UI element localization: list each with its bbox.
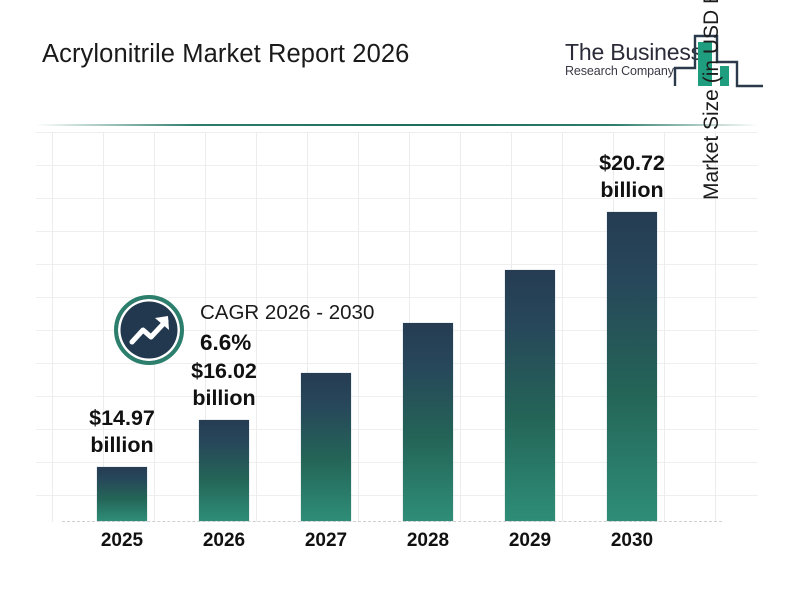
y-axis-title: Market Size (in USD Billion) <box>700 0 724 200</box>
bar-value-unit: billion <box>149 385 299 412</box>
bar-value-unit: billion <box>47 432 197 459</box>
x-axis-label-2028: 2028 <box>378 530 478 552</box>
bar-chart: $14.97 billion $16.02 billion $20.72 bil… <box>36 132 758 532</box>
x-axis-label-2029: 2029 <box>480 530 580 552</box>
bar-2029[interactable] <box>505 270 555 521</box>
cagr-label: CAGR 2026 - 2030 <box>200 299 440 327</box>
bar-value-2025: $14.97 billion <box>47 405 197 459</box>
cagr-text-group: CAGR 2026 - 2030 6.6% <box>200 299 440 359</box>
page-title: Acrylonitrile Market Report 2026 <box>42 40 409 69</box>
bar-2030[interactable] <box>607 212 657 521</box>
cagr-callout: CAGR 2026 - 2030 6.6% <box>114 295 434 373</box>
bar-2026[interactable] <box>199 420 249 521</box>
header-divider <box>36 124 758 126</box>
trending-up-arrow-icon <box>114 295 184 365</box>
bar-value-unit: billion <box>557 177 707 204</box>
chart-page: Acrylonitrile Market Report 2026 The Bus… <box>0 0 800 600</box>
x-axis-label-2025: 2025 <box>72 530 172 552</box>
x-axis-label-2026: 2026 <box>174 530 274 552</box>
bar-value-2030: $20.72 billion <box>557 150 707 204</box>
x-axis-label-2030: 2030 <box>582 530 682 552</box>
header: Acrylonitrile Market Report 2026 The Bus… <box>0 0 800 118</box>
bar-2027[interactable] <box>301 373 351 521</box>
bar-2025[interactable] <box>97 467 147 521</box>
bar-value-amount: $20.72 <box>557 150 707 177</box>
chart-baseline <box>62 521 722 523</box>
x-axis-label-2027: 2027 <box>276 530 376 552</box>
company-logo: The Business Research Company <box>565 28 765 100</box>
cagr-value: 6.6% <box>200 327 440 359</box>
